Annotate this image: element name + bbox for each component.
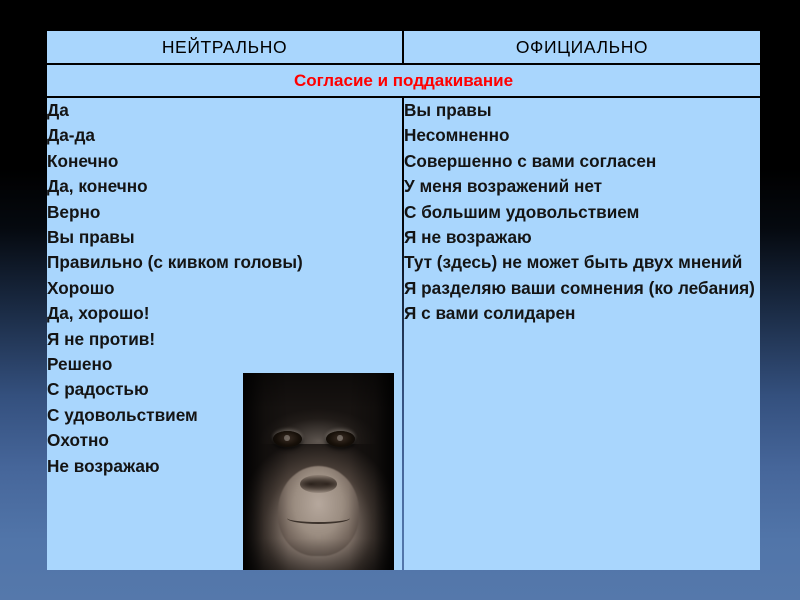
list-item: Да-да	[47, 123, 402, 148]
list-item: Я разделяю ваши сомнения (ко лебания)	[404, 276, 760, 301]
phrase-table: НЕЙТРАЛЬНО ОФИЦИАЛЬНО Согласие и поддаки…	[45, 29, 762, 572]
list-item: Совершенно с вами согласен	[404, 149, 760, 174]
list-item: Да, хорошо!	[47, 301, 402, 326]
photo-vignette	[243, 373, 394, 570]
list-item: Вы правы	[404, 98, 760, 123]
chimpanzee-photo	[243, 373, 394, 570]
column-header-neutral: НЕЙТРАЛЬНО	[47, 31, 402, 63]
list-item: Вы правы	[47, 225, 402, 250]
list-item: Хорошо	[47, 276, 402, 301]
list-item: Тут (здесь) не может быть двух мнений	[404, 250, 760, 275]
list-item: Я с вами солидарен	[404, 301, 760, 326]
table-body-row: Да Да-да Конечно Да, конечно Верно Вы пр…	[47, 98, 760, 570]
list-item: Верно	[47, 200, 402, 225]
list-item: У меня возражений нет	[404, 174, 760, 199]
official-cell: Вы правы Несомненно Совершенно с вами со…	[404, 98, 760, 570]
official-phrase-list: Вы правы Несомненно Совершенно с вами со…	[404, 98, 760, 327]
list-item: Да	[47, 98, 402, 123]
slide-canvas: НЕЙТРАЛЬНО ОФИЦИАЛЬНО Согласие и поддаки…	[0, 0, 800, 600]
list-item: Правильно (с кивком головы)	[47, 250, 402, 275]
list-item: С большим удовольствием	[404, 200, 760, 225]
section-title: Согласие и поддакивание	[47, 65, 760, 96]
table-header-row: НЕЙТРАЛЬНО ОФИЦИАЛЬНО	[47, 31, 760, 63]
column-header-official: ОФИЦИАЛЬНО	[404, 31, 760, 63]
list-item: Да, конечно	[47, 174, 402, 199]
list-item: Конечно	[47, 149, 402, 174]
table-section-row: Согласие и поддакивание	[47, 65, 760, 96]
list-item: Я не возражаю	[404, 225, 760, 250]
list-item: Несомненно	[404, 123, 760, 148]
list-item: Я не против!	[47, 327, 402, 352]
